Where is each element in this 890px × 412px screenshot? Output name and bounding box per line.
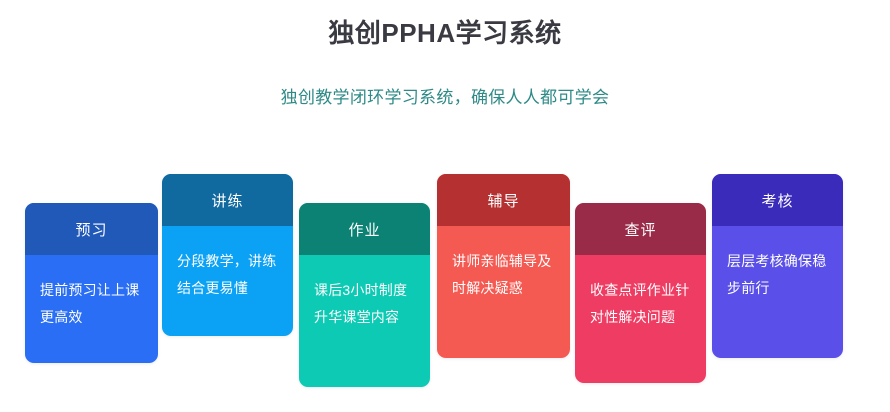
step-card-body: 提前预习让上课更高效	[25, 255, 158, 363]
step-card-body: 层层考核确保稳步前行	[712, 226, 843, 358]
step-card-body: 分段教学，讲练结合更易懂	[162, 226, 293, 336]
step-cards-container: 预习提前预习让上课更高效讲练分段教学，讲练结合更易懂作业课后3小时制度升华课堂内…	[0, 0, 890, 412]
step-card[interactable]: 作业课后3小时制度升华课堂内容	[299, 203, 430, 387]
step-card-header: 查评	[575, 203, 706, 255]
step-card-body: 收查点评作业针对性解决问题	[575, 255, 706, 383]
step-card[interactable]: 查评收查点评作业针对性解决问题	[575, 203, 706, 383]
step-card-header: 辅导	[437, 174, 570, 226]
step-card-header: 预习	[25, 203, 158, 255]
step-card-header: 作业	[299, 203, 430, 255]
step-card[interactable]: 考核层层考核确保稳步前行	[712, 174, 843, 358]
step-card-header: 讲练	[162, 174, 293, 226]
step-card-body: 讲师亲临辅导及时解决疑惑	[437, 226, 570, 358]
step-card-header: 考核	[712, 174, 843, 226]
step-card-body: 课后3小时制度升华课堂内容	[299, 255, 430, 387]
step-card[interactable]: 讲练分段教学，讲练结合更易懂	[162, 174, 293, 336]
step-card[interactable]: 辅导讲师亲临辅导及时解决疑惑	[437, 174, 570, 358]
step-card[interactable]: 预习提前预习让上课更高效	[25, 203, 158, 363]
learning-system-infographic: 独创PPHA学习系统 独创教学闭环学习系统，确保人人都可学会 预习提前预习让上课…	[0, 0, 890, 412]
